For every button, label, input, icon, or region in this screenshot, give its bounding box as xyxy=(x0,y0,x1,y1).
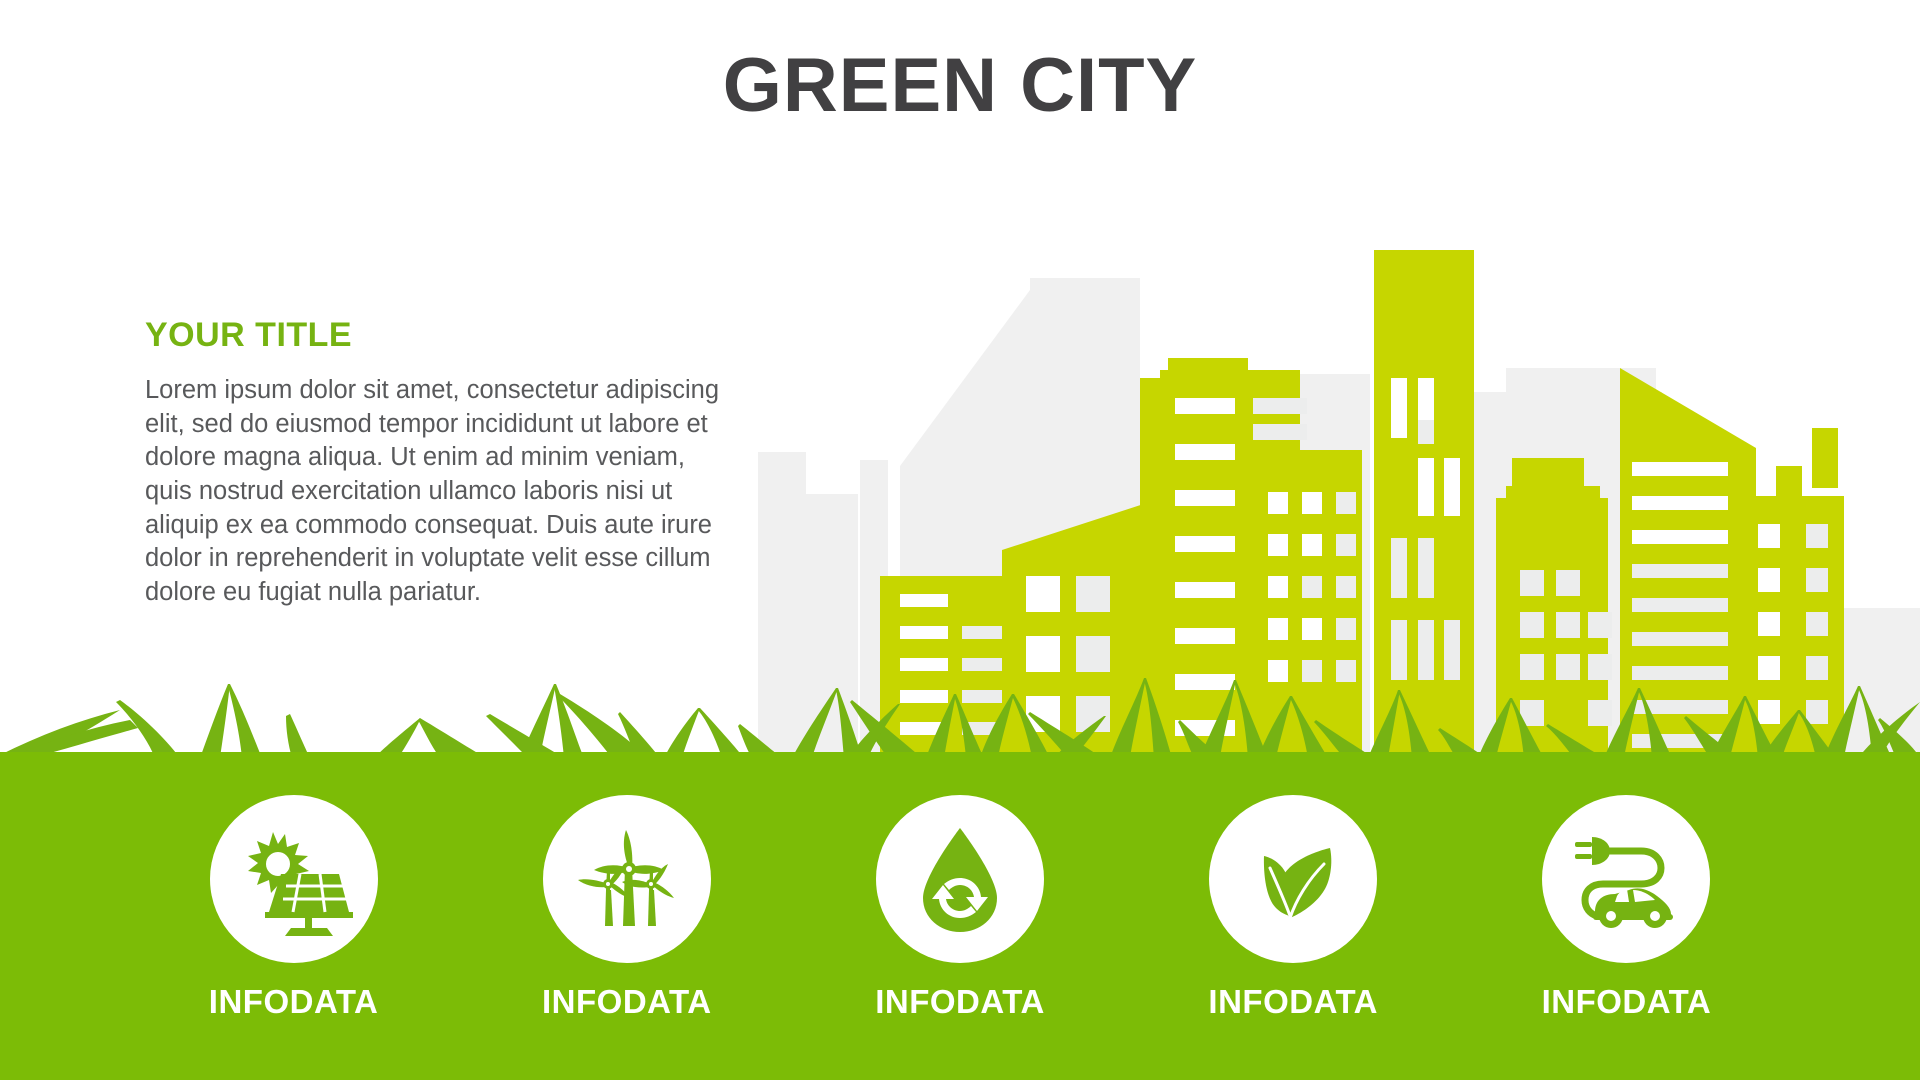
info-label: INFODATA xyxy=(875,985,1045,1018)
info-item-solar[interactable]: INFODATA xyxy=(160,795,427,1018)
slide-canvas: GREEN CITY YOUR TITLE Lorem ipsum dolor … xyxy=(0,0,1920,1080)
info-label: INFODATA xyxy=(1208,985,1378,1018)
info-label: INFODATA xyxy=(209,985,379,1018)
icon-circle-wind[interactable] xyxy=(543,795,711,963)
info-item-water[interactable]: INFODATA xyxy=(826,795,1093,1018)
page-title: GREEN CITY xyxy=(0,46,1920,126)
info-item-ecar[interactable]: INFODATA xyxy=(1493,795,1760,1018)
body-paragraph: Lorem ipsum dolor sit amet, consectetur … xyxy=(145,374,725,610)
icon-circle-solar[interactable] xyxy=(210,795,378,963)
infodata-row: INFODATA xyxy=(0,795,1920,1055)
text-block: YOUR TITLE Lorem ipsum dolor sit amet, c… xyxy=(145,318,745,610)
info-item-leaf[interactable]: INFODATA xyxy=(1160,795,1427,1018)
icon-circle-leaf[interactable] xyxy=(1209,795,1377,963)
wind-turbine-icon xyxy=(568,820,686,938)
leaf-icon xyxy=(1234,820,1352,938)
info-label: INFODATA xyxy=(542,985,712,1018)
solar-panel-icon xyxy=(235,820,353,938)
info-item-wind[interactable]: INFODATA xyxy=(493,795,760,1018)
water-recycle-drop-icon xyxy=(901,820,1019,938)
icon-circle-ecar[interactable] xyxy=(1542,795,1710,963)
grass-blades xyxy=(0,678,1920,760)
section-title: YOUR TITLE xyxy=(145,318,745,352)
icon-circle-water[interactable] xyxy=(876,795,1044,963)
info-label: INFODATA xyxy=(1542,985,1712,1018)
electric-car-icon xyxy=(1567,820,1685,938)
